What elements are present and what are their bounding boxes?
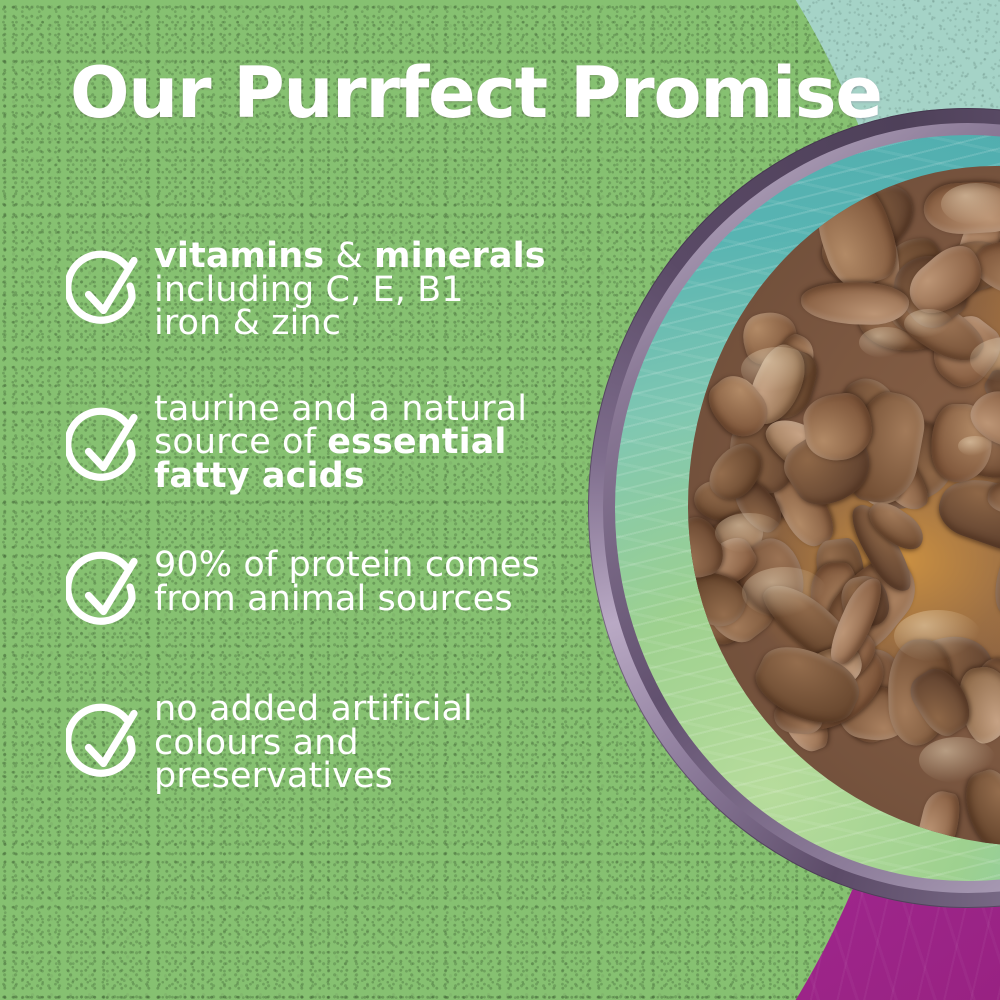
benefit-line: source of essential	[154, 426, 527, 460]
benefit-item: taurine and a naturalsource of essential…	[66, 385, 586, 494]
benefits-list: vitamins & mineralsincluding C, E, B1iro…	[66, 232, 586, 794]
benefit-text: 90% of protein comesfrom animal sources	[154, 541, 540, 616]
benefit-text-run: preservatives	[154, 756, 393, 796]
benefit-item: no added artificialcolours andpreservati…	[66, 685, 586, 794]
benefit-line: including C, E, B1	[154, 274, 546, 308]
benefit-line: 90% of protein comes	[154, 549, 540, 583]
benefit-line: no added artificial	[154, 693, 473, 727]
benefit-text: vitamins & mineralsincluding C, E, B1iro…	[154, 232, 546, 341]
check-circle-icon	[66, 385, 154, 491]
benefit-text-run: iron & zinc	[154, 303, 341, 343]
page-title: Our Purrfect Promise	[70, 58, 882, 128]
benefit-line: vitamins & minerals	[154, 240, 546, 274]
benefit-line: from animal sources	[154, 583, 540, 617]
benefit-line: colours and	[154, 727, 473, 761]
benefit-text-run: from animal sources	[154, 579, 513, 619]
food-chunk	[958, 764, 1000, 846]
benefit-text: no added artificialcolours andpreservati…	[154, 685, 473, 794]
food-chunk	[922, 179, 1000, 236]
check-circle-icon	[66, 685, 154, 787]
benefit-line: preservatives	[154, 760, 473, 794]
benefit-emphasis: fatty acids	[154, 456, 365, 496]
benefit-line: taurine and a natural	[154, 393, 527, 427]
check-circle-icon	[66, 232, 154, 334]
benefit-line: iron & zinc	[154, 307, 546, 341]
check-circle-icon	[66, 541, 154, 635]
benefit-item: vitamins & mineralsincluding C, E, B1iro…	[66, 232, 586, 341]
food-chunk	[801, 281, 910, 325]
benefit-item: 90% of protein comesfrom animal sources	[66, 541, 586, 635]
cat-food-bowl	[588, 108, 1000, 908]
promise-banner: Our Purrfect Promise vitamins & minerals…	[0, 0, 1000, 1000]
food-chunk	[914, 788, 965, 846]
benefit-text: taurine and a naturalsource of essential…	[154, 385, 527, 494]
benefit-line: fatty acids	[154, 460, 527, 494]
